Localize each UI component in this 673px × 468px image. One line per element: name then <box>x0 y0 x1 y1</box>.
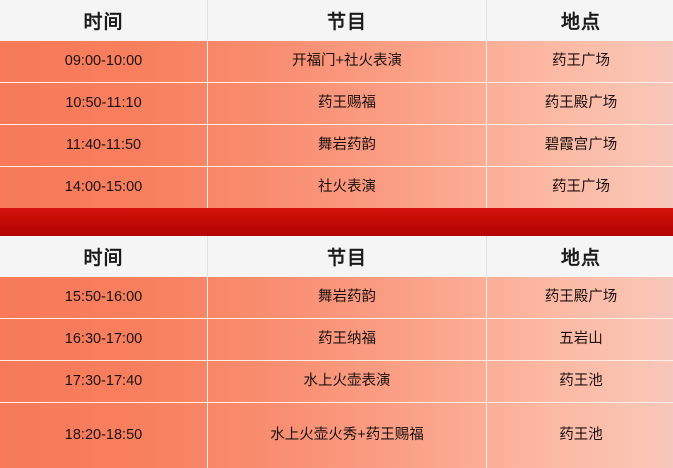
column-header-place: 地点 <box>487 0 673 41</box>
cell-show: 舞岩药韵 <box>208 125 487 167</box>
table-header-evening: 时间 节目 地点 <box>0 236 673 277</box>
column-header-show: 节目 <box>208 0 487 41</box>
cell-time: 09:00-10:00 <box>0 41 208 83</box>
table-row: 14:00-15:00 社火表演 药王广场 <box>0 167 673 209</box>
cell-show: 开福门+社火表演 <box>208 41 487 83</box>
cell-show: 水上火壶火秀+药王赐福 <box>208 403 487 468</box>
column-header-place: 地点 <box>487 236 673 277</box>
cell-time: 14:00-15:00 <box>0 167 208 209</box>
cell-time: 10:50-11:10 <box>0 83 208 125</box>
cell-place: 碧霞宫广场 <box>487 125 673 167</box>
cell-place: 药王殿广场 <box>487 83 673 125</box>
table-row: 09:00-10:00 开福门+社火表演 药王广场 <box>0 41 673 83</box>
cell-time: 17:30-17:40 <box>0 361 208 403</box>
cell-time: 16:30-17:00 <box>0 319 208 361</box>
column-header-time: 时间 <box>0 0 208 41</box>
section-divider-band <box>0 208 673 236</box>
cell-place: 药王广场 <box>487 41 673 83</box>
table-row: 15:50-16:00 舞岩药韵 药王殿广场 <box>0 277 673 319</box>
cell-place: 五岩山 <box>487 319 673 361</box>
header-row: 时间 节目 地点 <box>0 236 673 277</box>
cell-place: 药王殿广场 <box>487 277 673 319</box>
cell-place: 药王池 <box>487 361 673 403</box>
table-row: 11:40-11:50 舞岩药韵 碧霞宫广场 <box>0 125 673 167</box>
cell-place: 药王广场 <box>487 167 673 209</box>
cell-show: 社火表演 <box>208 167 487 209</box>
schedule-page: 时间 节目 地点 09:00-10:00 开福门+社火表演 药王广场 10:50… <box>0 0 673 443</box>
table-row: 10:50-11:10 药王赐福 药王殿广场 <box>0 83 673 125</box>
column-header-time: 时间 <box>0 236 208 277</box>
cell-show: 药王赐福 <box>208 83 487 125</box>
cell-show: 水上火壶表演 <box>208 361 487 403</box>
table-header-morning: 时间 节目 地点 <box>0 0 673 41</box>
cell-time: 11:40-11:50 <box>0 125 208 167</box>
cell-time: 15:50-16:00 <box>0 277 208 319</box>
cell-show: 舞岩药韵 <box>208 277 487 319</box>
header-row: 时间 节目 地点 <box>0 0 673 41</box>
table-body-morning: 09:00-10:00 开福门+社火表演 药王广场 10:50-11:10 药王… <box>0 41 673 208</box>
cell-show: 药王纳福 <box>208 319 487 361</box>
column-header-show: 节目 <box>208 236 487 277</box>
cell-time: 18:20-18:50 <box>0 403 208 468</box>
table-body-evening: 15:50-16:00 舞岩药韵 药王殿广场 16:30-17:00 药王纳福 … <box>0 277 673 468</box>
schedule-table-evening: 时间 节目 地点 15:50-16:00 舞岩药韵 药王殿广场 16:30-17… <box>0 236 673 468</box>
cell-place: 药王池 <box>487 403 673 468</box>
table-row: 18:20-18:50 水上火壶火秀+药王赐福 药王池 <box>0 403 673 468</box>
table-row: 16:30-17:00 药王纳福 五岩山 <box>0 319 673 361</box>
table-row: 17:30-17:40 水上火壶表演 药王池 <box>0 361 673 403</box>
schedule-table-morning: 时间 节目 地点 09:00-10:00 开福门+社火表演 药王广场 10:50… <box>0 0 673 208</box>
